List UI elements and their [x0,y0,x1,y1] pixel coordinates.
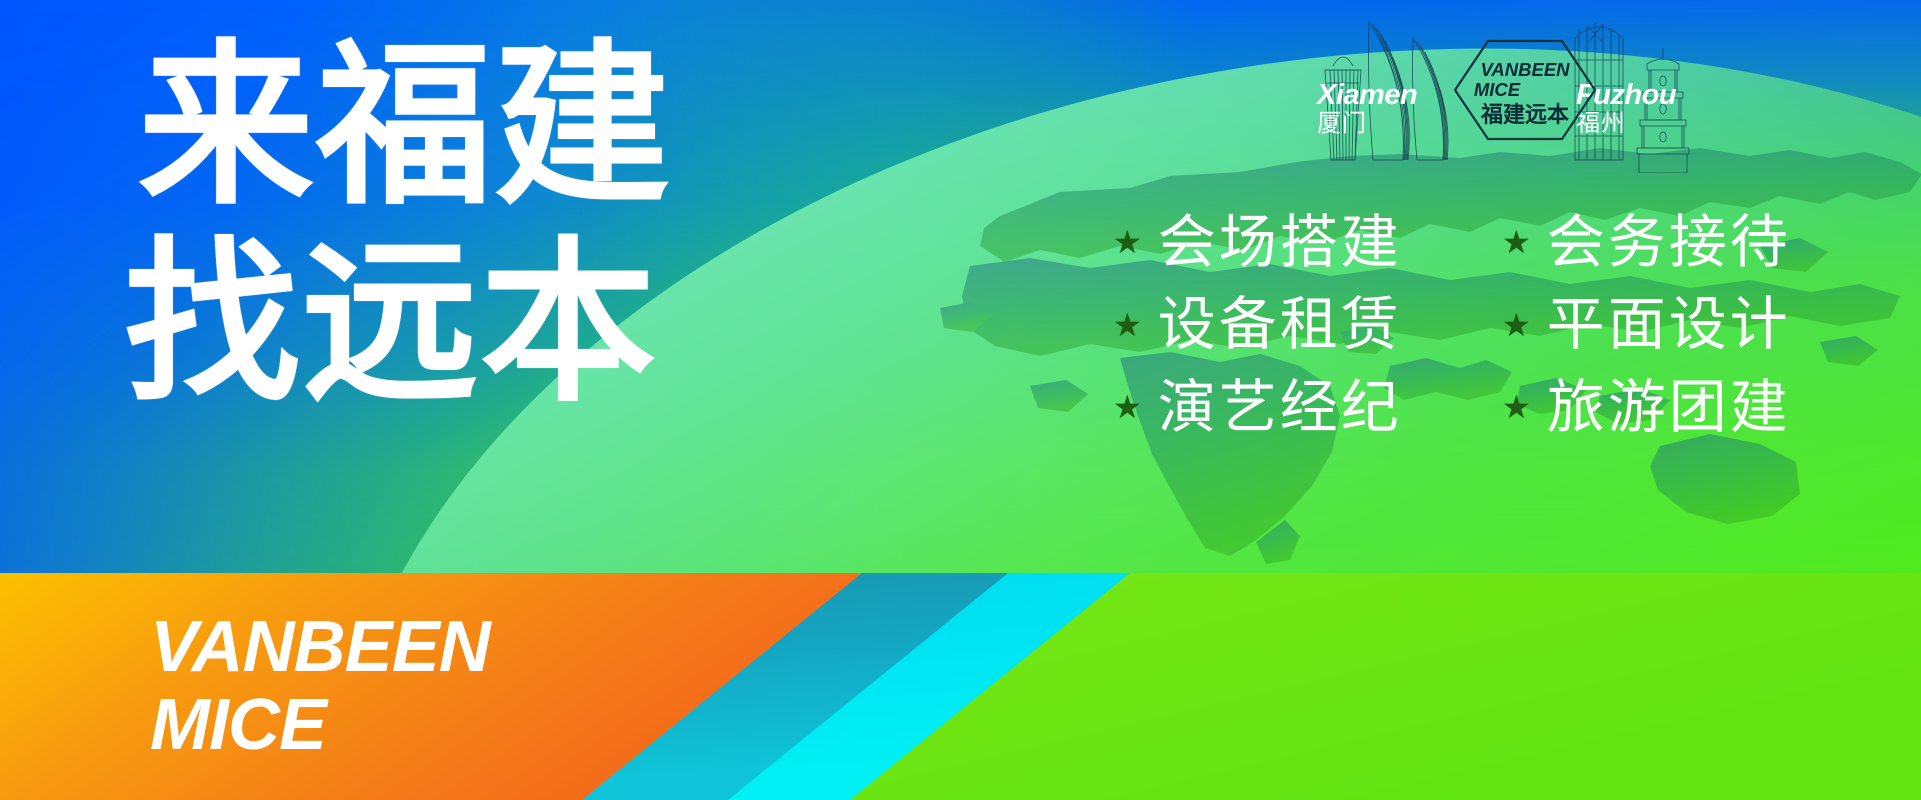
star-icon: ★ [1113,391,1142,423]
service-item: ★ 设备租赁 [1113,290,1484,358]
brand-line-1: VANBEEN [150,611,490,683]
brand-line-2: MICE [150,689,490,761]
hex-logo-line-2: MICE [1474,79,1521,100]
city-logo-cluster: Xiamen 厦门 Fuzhou 福州 VANBEEN MICE 福建远本 [1311,8,1741,173]
services-list: ★ 会场搭建 ★ 会务接待 ★ 设备租赁 ★ 平面设计 ★ 演艺经纪 ★ 旅游团… [1113,208,1873,441]
banner-main-area: 来福建 找远本 ★ 会场搭建 ★ 会务接待 ★ 设备租赁 ★ 平面设计 ★ [0,0,1921,573]
city-xiamen: Xiamen 厦门 [1317,80,1417,138]
service-item: ★ 平面设计 [1502,290,1873,358]
star-icon: ★ [1113,226,1142,258]
star-icon: ★ [1502,309,1531,341]
service-label: 设备租赁 [1158,290,1402,358]
headline-line-1: 来福建 [138,28,798,225]
promo-banner: 来福建 找远本 ★ 会场搭建 ★ 会务接待 ★ 设备租赁 ★ 平面设计 ★ [0,0,1921,800]
star-icon: ★ [1502,391,1531,423]
service-label: 演艺经纪 [1158,373,1402,441]
star-icon: ★ [1113,309,1142,341]
city-xiamen-cn: 厦门 [1317,110,1417,138]
service-label: 旅游团建 [1547,373,1791,441]
banner-bottom-bar: VANBEEN MICE [0,573,1921,800]
hex-logo-line-3: 福建远本 [1480,103,1569,128]
star-icon: ★ [1502,226,1531,258]
service-label: 会务接待 [1547,208,1791,276]
service-label: 会场搭建 [1158,208,1402,276]
brand-lockup: VANBEEN MICE [150,611,490,761]
headline: 来福建 找远本 [138,28,798,422]
service-item: ★ 旅游团建 [1502,373,1873,441]
service-item: ★ 演艺经纪 [1113,373,1484,441]
hex-logo-line-1: VANBEEN [1480,59,1570,80]
service-item: ★ 会务接待 [1502,208,1873,276]
service-label: 平面设计 [1547,290,1791,358]
headline-line-2: 找远本 [124,225,798,422]
city-xiamen-en: Xiamen [1317,80,1417,110]
vanbeen-hexagon-logo: VANBEEN MICE 福建远本 [1452,38,1598,142]
service-item: ★ 会场搭建 [1113,208,1484,276]
